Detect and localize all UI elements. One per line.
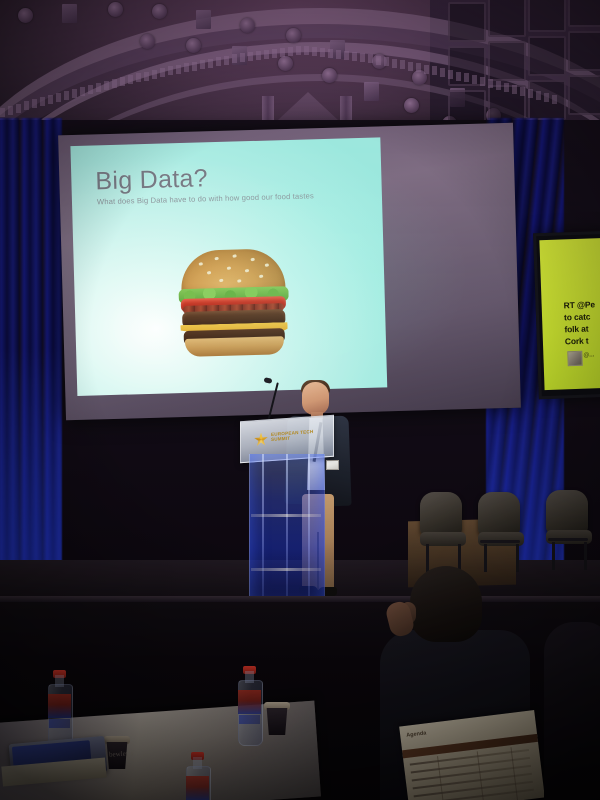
- ceiling-dentil: [336, 50, 341, 59]
- ceiling-dentil: [264, 50, 269, 59]
- tweet-line-2: to catc: [564, 309, 600, 323]
- tweet-line-3: folk at: [564, 321, 600, 335]
- ceiling-dentil: [392, 59, 397, 68]
- ceiling-dentil: [8, 106, 13, 115]
- ceiling-rosette: [186, 38, 201, 53]
- ceiling-dentil: [552, 95, 557, 104]
- ceiling-dentil: [224, 56, 229, 65]
- water-bottle-3: [186, 752, 209, 800]
- burger-image: [178, 248, 289, 355]
- ceiling-coffer: [568, 75, 600, 115]
- ceiling-dentil: [368, 54, 373, 63]
- ceiling-dentil: [352, 52, 357, 61]
- coffee-cup-2: [264, 702, 290, 735]
- ceiling-dentil: [280, 48, 285, 57]
- ceiling-dentil: [0, 108, 5, 117]
- ceiling-dentil: [512, 85, 517, 94]
- ceiling-dentil: [48, 95, 53, 104]
- printed-programme: Agenda: [399, 710, 545, 800]
- ceiling-dentil: [136, 73, 141, 82]
- slide-title: Big Data?: [95, 164, 208, 196]
- ceiling-dentil: [400, 60, 405, 69]
- ceiling-rosette: [108, 2, 123, 17]
- ceiling-dentil: [304, 46, 309, 55]
- ceiling-coffer: [568, 0, 600, 27]
- ceiling-dentil: [424, 65, 429, 74]
- ceiling-rosette: [140, 34, 155, 49]
- ceiling-coffer: [488, 41, 526, 81]
- ceiling-dentil: [176, 65, 181, 74]
- star-icon: [254, 432, 268, 447]
- curtain-uplight-left: [0, 348, 62, 588]
- tweet-avatar: [567, 351, 583, 367]
- ceiling-dentil: [544, 93, 549, 102]
- ceiling-dentil: [256, 51, 261, 60]
- ceiling-dentil: [312, 47, 317, 56]
- tweet-line-4: Cork t: [565, 333, 600, 347]
- presentation-slide: Big Data? What does Big Data have to do …: [70, 137, 387, 396]
- speaker-head: [302, 382, 329, 415]
- ceiling-rosette: [278, 56, 293, 71]
- ceiling-rosette: [286, 28, 301, 43]
- ceiling-dentil: [384, 57, 389, 66]
- ceiling-dentil: [208, 59, 213, 68]
- ceiling-dentil: [480, 77, 485, 86]
- ceiling-dentil: [448, 70, 453, 79]
- conference-photo-scene: Big Data? What does Big Data have to do …: [0, 0, 600, 800]
- chair-backrest: [546, 490, 588, 534]
- ceiling-dentil: [96, 83, 101, 92]
- ceiling-dentil: [80, 87, 85, 96]
- ceiling-dentil: [64, 91, 69, 100]
- podium-logo-text: EUROPEAN TECH SUMMIT: [271, 429, 316, 443]
- ceiling-coffer: [528, 0, 566, 32]
- ceiling-dentil: [416, 63, 421, 72]
- ceiling-dentil: [144, 72, 149, 81]
- ceiling-dentil: [288, 47, 293, 56]
- ceiling-dentil: [328, 49, 333, 58]
- chair-backrest: [478, 492, 520, 536]
- ceiling-dentil: [504, 83, 509, 92]
- ceiling-dentil: [520, 87, 525, 96]
- ceiling-rosette: [240, 18, 255, 33]
- ceiling-dentil: [192, 62, 197, 71]
- podium-logo: EUROPEAN TECH SUMMIT: [254, 426, 316, 452]
- ceiling-dentil: [56, 93, 61, 102]
- audience-head: [410, 566, 482, 642]
- ceiling-coffer: [448, 2, 486, 42]
- ceiling-rosette: [322, 68, 337, 83]
- ceiling-coffer: [528, 36, 566, 76]
- ceiling-panel-ornament: [196, 10, 211, 29]
- water-bottle-2: [238, 666, 261, 744]
- audience-member-right: [544, 622, 600, 800]
- ceiling-dentil: [456, 72, 461, 81]
- coffee-cup-1: bewley's: [104, 736, 130, 769]
- ceiling-panel-ornament: [364, 82, 379, 101]
- ceiling-dentil: [440, 68, 445, 77]
- ceiling-dentil: [296, 46, 301, 55]
- ceiling-coffer: [488, 0, 526, 37]
- ceiling-dentil: [120, 77, 125, 86]
- tweet-handle: @...: [583, 352, 594, 358]
- programme-header-band: [402, 734, 538, 759]
- ceiling-dentil: [184, 63, 189, 72]
- ceiling-dentil: [24, 101, 29, 110]
- cup-logo-text: bewley's: [109, 749, 134, 758]
- ceiling-panel-ornament: [62, 4, 77, 23]
- ceiling-dentil: [16, 104, 21, 113]
- cup-body: [265, 708, 289, 735]
- ceiling-dentil: [320, 48, 325, 57]
- water-bottle-1: [48, 670, 71, 748]
- ceiling-dentil: [168, 66, 173, 75]
- bottle-label: [238, 690, 261, 714]
- ceiling-dentil: [232, 54, 237, 63]
- ceiling-rosette: [404, 98, 419, 113]
- ceiling-rosette: [152, 4, 167, 19]
- ceiling-dentil: [496, 81, 501, 90]
- ceiling-dentil: [72, 89, 77, 98]
- ceiling-dentil: [360, 53, 365, 62]
- ceiling-rosette: [18, 8, 33, 23]
- ceiling-dentil: [528, 89, 533, 98]
- bottle-label: [186, 776, 209, 800]
- ceiling-dentil: [464, 73, 469, 82]
- ceiling-dentil: [40, 97, 45, 106]
- ceiling-dentil: [32, 99, 37, 108]
- twitter-wall-surface: RT @Pe to catc folk at Cork t @...: [539, 238, 600, 390]
- tweet-line-1: RT @Pe: [563, 297, 600, 311]
- ceiling-dentil: [240, 53, 245, 62]
- ceiling-dentil: [200, 60, 205, 69]
- programme-title: Agenda: [406, 730, 427, 738]
- ceiling-dentil: [344, 51, 349, 60]
- ceiling-coffer: [568, 31, 600, 71]
- ceiling-dentil: [152, 70, 157, 79]
- main-projection-screen: Big Data? What does Big Data have to do …: [58, 123, 521, 421]
- ceiling-dentil: [216, 57, 221, 66]
- lectern-podium: EUROPEAN TECH SUMMIT: [240, 418, 332, 603]
- ceiling-dentil: [248, 52, 253, 61]
- ceiling-dentil: [488, 79, 493, 88]
- twitter-wall-screen: RT @Pe to catc folk at Cork t @...: [533, 231, 600, 400]
- ceiling-dentil: [272, 49, 277, 58]
- ceiling-dentil: [160, 68, 165, 77]
- ceiling-dentil: [88, 85, 93, 94]
- chair-backrest: [420, 492, 462, 536]
- burger-bottom-bun: [185, 336, 284, 357]
- ceiling-dentil: [536, 91, 541, 100]
- ceiling-dentil: [128, 75, 133, 84]
- ceiling-dentil: [432, 66, 437, 75]
- ceiling-dentil: [408, 62, 413, 71]
- ceiling-dentil: [472, 75, 477, 84]
- stage-curtain-left: [0, 118, 62, 588]
- ceiling-dentil: [112, 79, 117, 88]
- ceiling-dentil: [104, 81, 109, 90]
- bottle-label: [48, 694, 71, 718]
- ceiling-dentil: [376, 56, 381, 65]
